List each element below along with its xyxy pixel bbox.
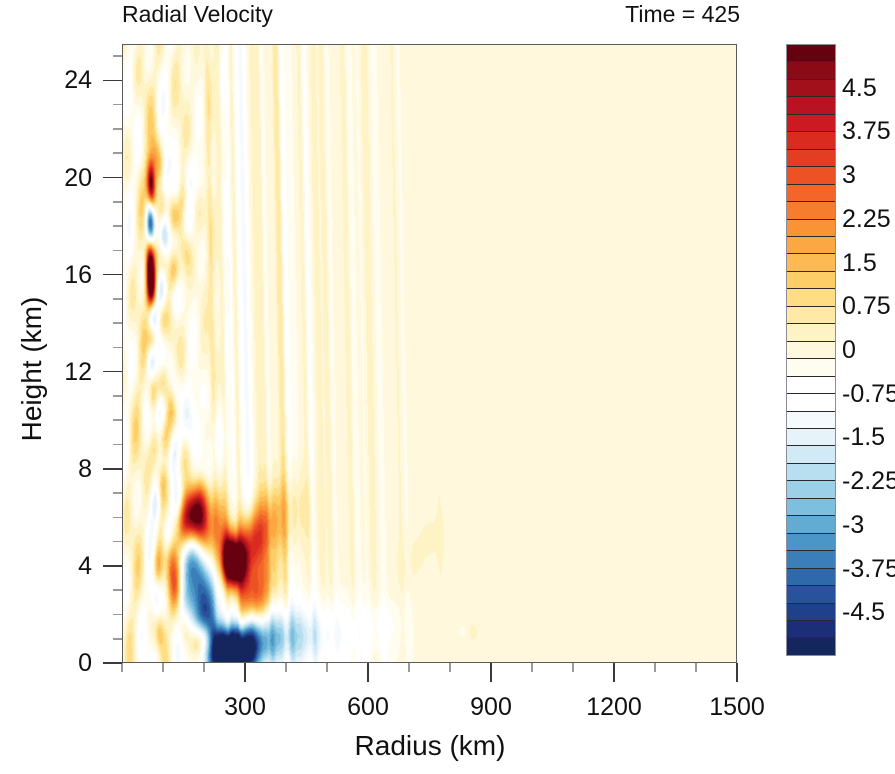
colorbar-swatch [787,324,835,341]
x-tick [162,663,164,672]
y-tick [103,80,122,82]
colorbar-swatch [787,185,835,202]
x-tick [326,663,328,672]
timestamp-label: Time = 425 [420,0,740,29]
colorbar-tick-label: 4.5 [842,75,877,101]
y-tick-label: 20 [0,164,92,192]
y-tick [113,492,122,494]
x-axis-title: Radius (km) [0,730,860,762]
velocity-field-heatmap [123,45,736,662]
colorbar [786,44,836,656]
colorbar-tick-label: 0.75 [842,293,891,319]
x-tick [121,663,123,672]
y-tick [113,201,122,203]
colorbar-swatch [787,220,835,237]
y-tick [103,565,122,567]
colorbar-swatch [787,586,835,603]
y-tick [103,274,122,276]
colorbar-swatch [787,132,835,149]
colorbar-tick-label: -2.25 [842,468,895,494]
y-tick [103,177,122,179]
y-tick [113,55,122,57]
colorbar-swatch [787,150,835,167]
colorbar-swatch [787,307,835,324]
y-tick [113,541,122,543]
colorbar-swatch [787,359,835,376]
y-tick [113,638,122,640]
x-tick-label: 300 [224,693,266,721]
colorbar-tick-label: -1.5 [842,424,885,450]
y-tick [103,662,122,664]
colorbar-tick-label: 3 [842,162,856,188]
x-tick [490,663,492,682]
colorbar-swatch [787,481,835,498]
colorbar-swatch [787,202,835,219]
x-tick-label: 1500 [709,693,765,721]
y-tick [113,250,122,252]
y-tick [113,517,122,519]
x-tick [695,663,697,672]
y-tick [103,371,122,373]
colorbar-swatch [787,115,835,132]
colorbar-swatch [787,534,835,551]
colorbar-swatch [787,272,835,289]
x-tick [572,663,574,672]
x-tick [285,663,287,672]
x-tick-label: 900 [470,693,512,721]
x-tick-label: 1200 [586,693,642,721]
colorbar-tick-label: -0.75 [842,381,895,407]
colorbar-swatch [787,394,835,411]
y-tick-label: 24 [0,66,92,94]
colorbar-swatch [787,446,835,463]
y-tick [113,128,122,130]
x-tick [531,663,533,672]
y-tick [113,589,122,591]
colorbar-swatch [787,167,835,184]
colorbar-swatch [787,604,835,621]
y-tick [103,468,122,470]
figure-root: Radial Velocity Time = 425 3006009001200… [0,0,895,774]
colorbar-swatch [787,342,835,359]
colorbar-tick-label: -3.75 [842,556,895,582]
y-tick-label: 0 [0,649,92,677]
y-tick [113,104,122,106]
colorbar-tick-label: 0 [842,337,856,363]
colorbar-swatch [787,429,835,446]
colorbar-tick-label: -3 [842,512,864,538]
colorbar-swatch [787,516,835,533]
colorbar-swatch [787,97,835,114]
colorbar-tick-label: 2.25 [842,206,891,232]
y-tick [113,614,122,616]
colorbar-swatch [787,289,835,306]
colorbar-swatch [787,45,835,62]
y-tick [113,152,122,154]
colorbar-tick-label: 1.5 [842,250,877,276]
colorbar-swatch [787,254,835,271]
x-tick [613,663,615,682]
x-tick [203,663,205,672]
colorbar-swatch [787,62,835,79]
y-tick [113,225,122,227]
colorbar-swatch [787,412,835,429]
colorbar-swatch [787,621,835,638]
y-tick [113,395,122,397]
colorbar-swatch [787,80,835,97]
y-tick [113,322,122,324]
x-tick-label: 600 [347,693,389,721]
y-tick-label: 4 [0,552,92,580]
colorbar-swatch [787,464,835,481]
colorbar-swatch [787,569,835,586]
y-tick [113,298,122,300]
colorbar-swatch [787,638,835,654]
y-tick [113,347,122,349]
colorbar-swatch [787,499,835,516]
x-tick [244,663,246,682]
plot-area [122,44,737,663]
colorbar-tick-label: -4.5 [842,599,885,625]
x-tick [408,663,410,672]
colorbar-tick-label: 3.75 [842,118,891,144]
y-tick [113,444,122,446]
x-tick [654,663,656,672]
y-tick [113,419,122,421]
colorbar-swatch [787,551,835,568]
colorbar-swatch [787,237,835,254]
x-tick [736,663,738,682]
x-tick [367,663,369,682]
x-tick [449,663,451,672]
y-axis-title: Height (km) [16,219,48,519]
colorbar-swatch [787,377,835,394]
